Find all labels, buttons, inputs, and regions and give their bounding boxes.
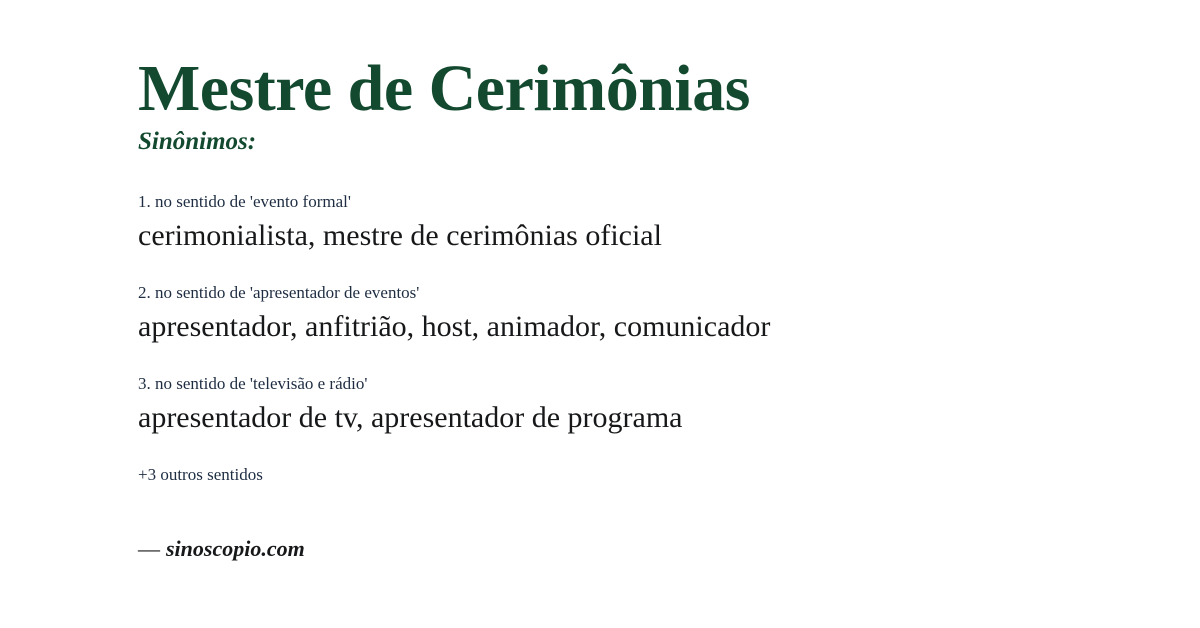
- more-senses-note: +3 outros sentidos: [138, 464, 1140, 487]
- sense-label: 1. no sentido de 'evento formal': [138, 191, 1140, 214]
- sense-synonyms: apresentador de tv, apresentador de prog…: [138, 398, 1140, 437]
- sense-entry: 1. no sentido de 'evento formal' cerimon…: [138, 191, 1140, 255]
- attribution: —sinoscopio.com: [138, 536, 1140, 562]
- synonym-card: Mestre de Cerimônias Sinônimos: 1. no se…: [0, 0, 1200, 628]
- sense-entry: 3. no sentido de 'televisão e rádio' apr…: [138, 373, 1140, 437]
- sense-label: 3. no sentido de 'televisão e rádio': [138, 373, 1140, 396]
- subtitle-synonyms: Sinônimos:: [138, 128, 1140, 157]
- page-title: Mestre de Cerimônias: [138, 56, 1140, 122]
- sense-synonyms: cerimonialista, mestre de cerimônias ofi…: [138, 216, 1140, 255]
- sense-label: 2. no sentido de 'apresentador de evento…: [138, 282, 1140, 305]
- sense-synonyms: apresentador, anfitrião, host, animador,…: [138, 307, 1140, 346]
- source-name: sinoscopio.com: [166, 536, 305, 561]
- em-dash: —: [138, 536, 166, 561]
- sense-entry: 2. no sentido de 'apresentador de evento…: [138, 282, 1140, 346]
- sense-list: 1. no sentido de 'evento formal' cerimon…: [138, 191, 1140, 437]
